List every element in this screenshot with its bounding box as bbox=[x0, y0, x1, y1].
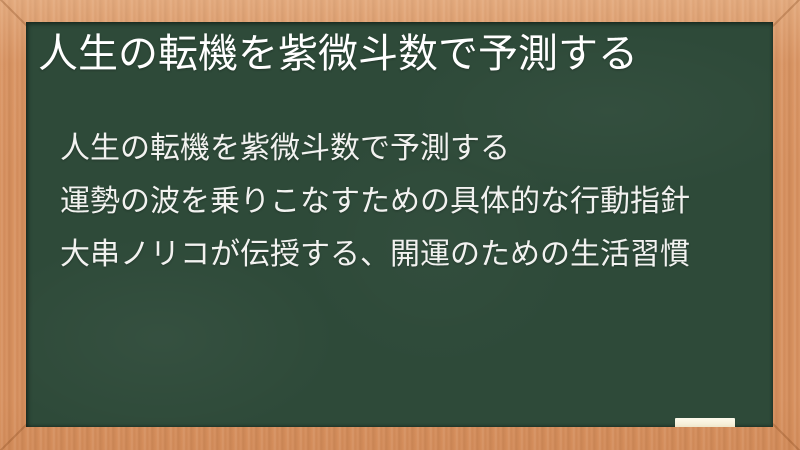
board-line-1: 人生の転機を紫微斗数で予測する bbox=[60, 122, 760, 175]
board-title: 人生の転機を紫微斗数で予測する bbox=[38, 28, 758, 81]
board-line-list: 人生の転機を紫微斗数で予測する 運勢の波を乗りこなすための具体的な行動指針 大串… bbox=[60, 122, 760, 281]
frame-miter-top-left bbox=[0, 0, 28, 27]
frame-miter-bottom-right bbox=[772, 423, 800, 450]
frame-miter-bottom-left bbox=[0, 423, 28, 450]
board-line-2: 運勢の波を乗りこなすための具体的な行動指針 bbox=[60, 175, 760, 228]
board-line-3: 大串ノリコが伝授する、開運のための生活習慣 bbox=[60, 228, 760, 281]
chalkboard-surface: 人生の転機を紫微斗数で予測する 人生の転機を紫微斗数で予測する 運勢の波を乗りこ… bbox=[26, 22, 773, 427]
frame-miter-top-right bbox=[772, 0, 800, 27]
chalk-stick bbox=[675, 418, 735, 427]
blackboard-frame: 人生の転機を紫微斗数で予測する 人生の転機を紫微斗数で予測する 運勢の波を乗りこ… bbox=[0, 0, 800, 450]
